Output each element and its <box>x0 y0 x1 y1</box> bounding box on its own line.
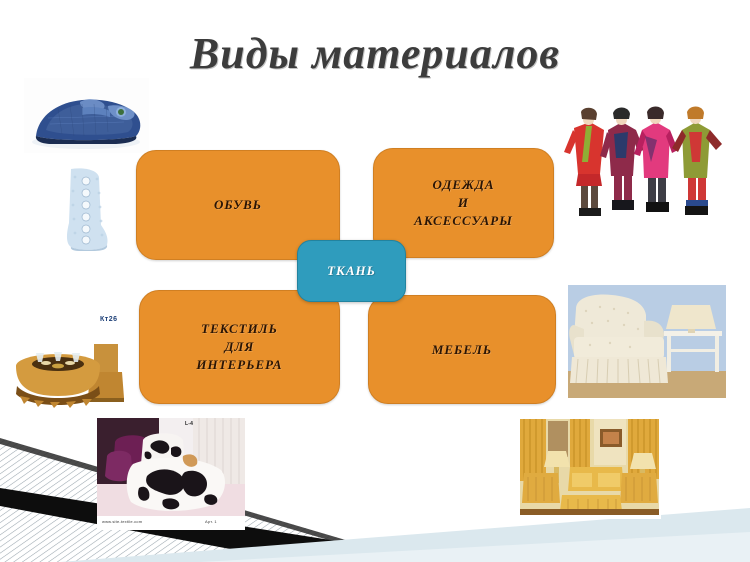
diagram-node-textile-label: ТЕКСТИЛЬ ДЛЯ ИНТЕРЬЕРА <box>196 320 282 374</box>
bed-watermark-right: Арт. 1 <box>205 519 217 524</box>
label-kt26: Кт26 <box>100 316 118 323</box>
photo-shoe <box>24 78 149 153</box>
diagram-node-furniture-label: МЕБЕЛЬ <box>432 341 492 359</box>
diagram-node-furniture[interactable]: МЕБЕЛЬ <box>368 295 556 404</box>
photo-boot <box>55 165 117 253</box>
diagram-node-clothing-label: ОДЕЖДА И АКСЕССУАРЫ <box>414 176 513 230</box>
diagram-node-clothing[interactable]: ОДЕЖДА И АКСЕССУАРЫ <box>373 148 554 258</box>
diagram-node-shoes-label: ОБУВЬ <box>214 196 262 214</box>
diagram-node-fabric-label: ТКАНЬ <box>327 262 376 280</box>
photo-armchair <box>560 285 730 398</box>
bed-code-label: L-4 <box>185 421 193 427</box>
page-title: Виды материалов <box>0 28 750 79</box>
photo-living-room <box>518 417 661 519</box>
diagram-node-fabric-center[interactable]: ТКАНЬ <box>297 240 406 302</box>
photo-bedding <box>97 418 245 530</box>
slide-canvas: Виды материалов <box>0 0 750 562</box>
photo-fashion-models <box>556 100 730 222</box>
bed-watermark-left: www.site-textile.com <box>102 519 142 524</box>
diagram-node-textile[interactable]: ТЕКСТИЛЬ ДЛЯ ИНТЕРЬЕРА <box>139 290 340 404</box>
photo-table-linen <box>12 322 132 410</box>
